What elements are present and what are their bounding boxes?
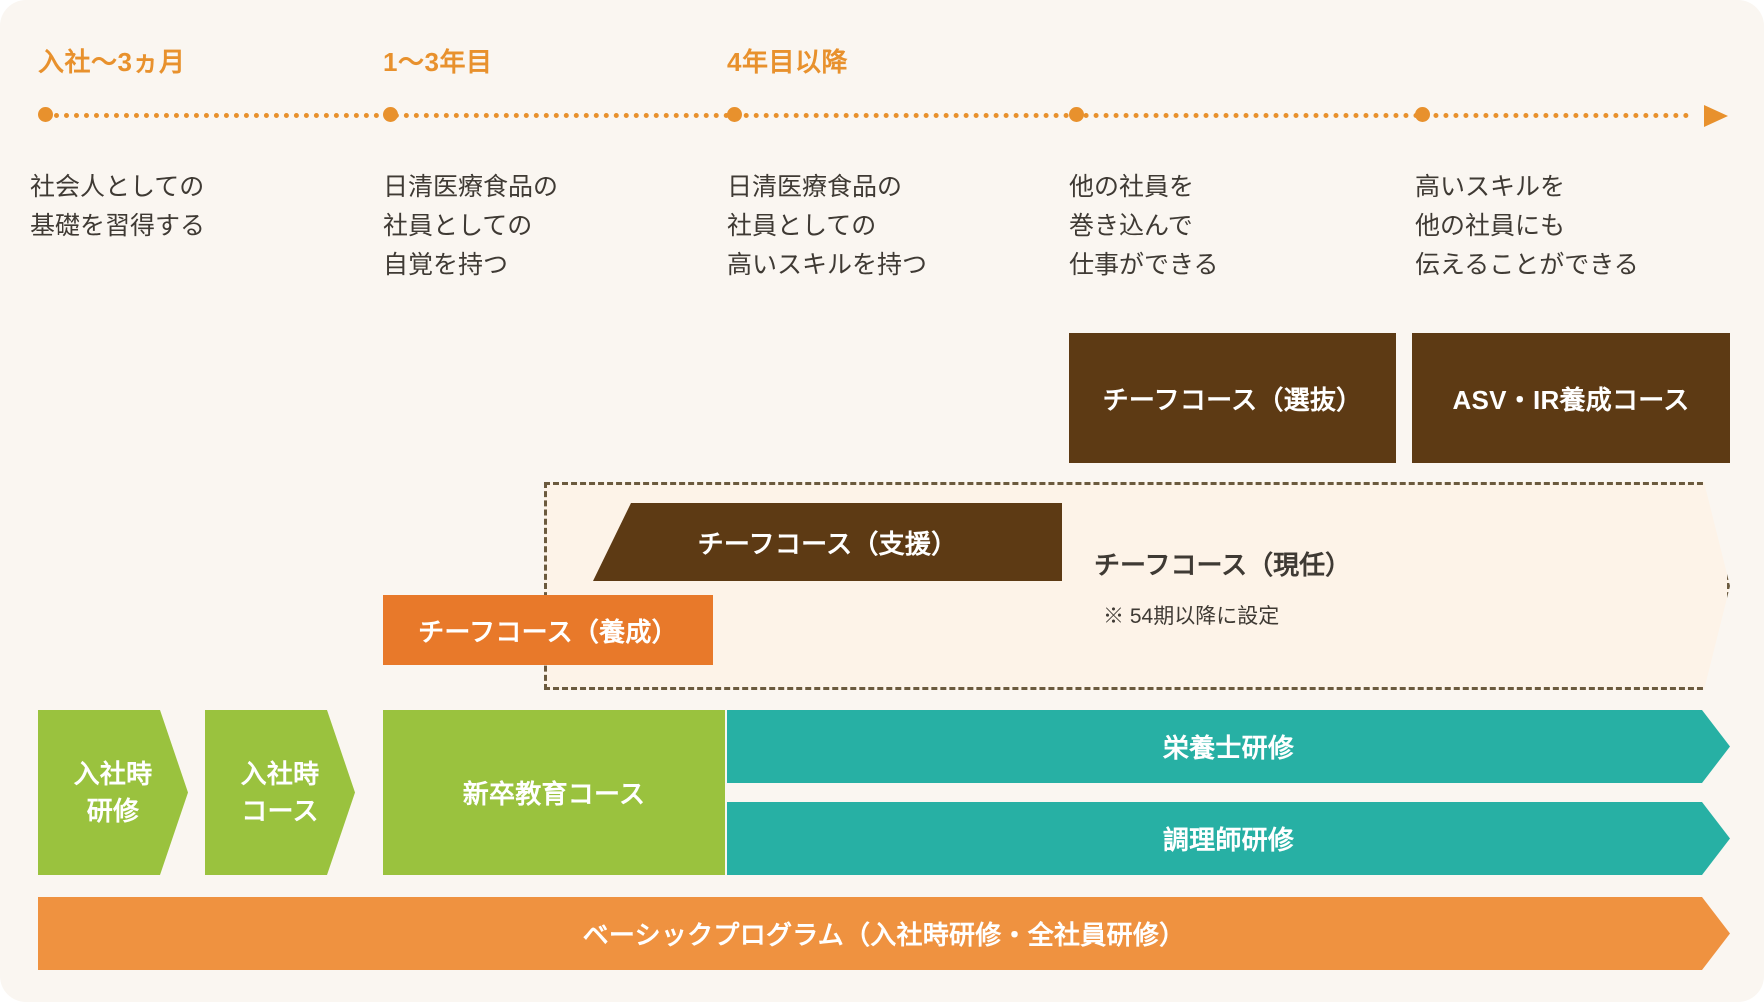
- timeline-dot-0: [38, 107, 53, 122]
- course-cook[interactable]: 調理師研修: [727, 802, 1730, 875]
- goal-text-0: 社会人としての 基礎を習得する: [30, 168, 205, 246]
- course-new-grad[interactable]: 新卒教育コース: [383, 710, 725, 875]
- timeline-arrow-icon: [1704, 105, 1728, 127]
- timeline-dot-2: [727, 107, 742, 122]
- phase-label-0: 入社〜3ヵ月: [38, 42, 186, 79]
- course-dietitian[interactable]: 栄養士研修: [727, 710, 1730, 783]
- phase-label-1: 1〜3年目: [383, 42, 493, 79]
- course-chief-current-note: ※ 54期以降に設定: [1103, 600, 1279, 630]
- course-asv-ir[interactable]: ASV・IR養成コース: [1412, 333, 1730, 463]
- course-chief-current-title: チーフコース（現任）: [1094, 545, 1351, 582]
- timeline-axis: [38, 105, 1728, 125]
- course-entry-course[interactable]: 入社時 コース: [205, 710, 355, 875]
- course-basic-program[interactable]: ベーシックプログラム（入社時研修・全社員研修）: [38, 897, 1730, 970]
- timeline-dotted-line: [44, 113, 1690, 118]
- course-entry-training[interactable]: 入社時 研修: [38, 710, 188, 875]
- timeline-dot-1: [383, 107, 398, 122]
- course-chief-select[interactable]: チーフコース（選抜）: [1069, 333, 1396, 463]
- career-path-diagram: 入社〜3ヵ月 1〜3年目 4年目以降 社会人としての 基礎を習得する 日清医療食…: [0, 0, 1764, 1002]
- phase-label-2: 4年目以降: [727, 42, 848, 79]
- goal-text-1: 日清医療食品の 社員としての 自覚を持つ: [383, 168, 558, 284]
- course-chief-train[interactable]: チーフコース（養成）: [383, 595, 713, 665]
- goal-text-3: 他の社員を 巻き込んで 仕事ができる: [1069, 168, 1219, 284]
- timeline-dot-4: [1415, 107, 1430, 122]
- goal-text-2: 日清医療食品の 社員としての 高いスキルを持つ: [727, 168, 927, 284]
- course-chief-support[interactable]: チーフコース（支援）: [593, 503, 1062, 581]
- timeline-dot-3: [1069, 107, 1084, 122]
- goal-text-4: 高いスキルを 他の社員にも 伝えることができる: [1415, 168, 1639, 284]
